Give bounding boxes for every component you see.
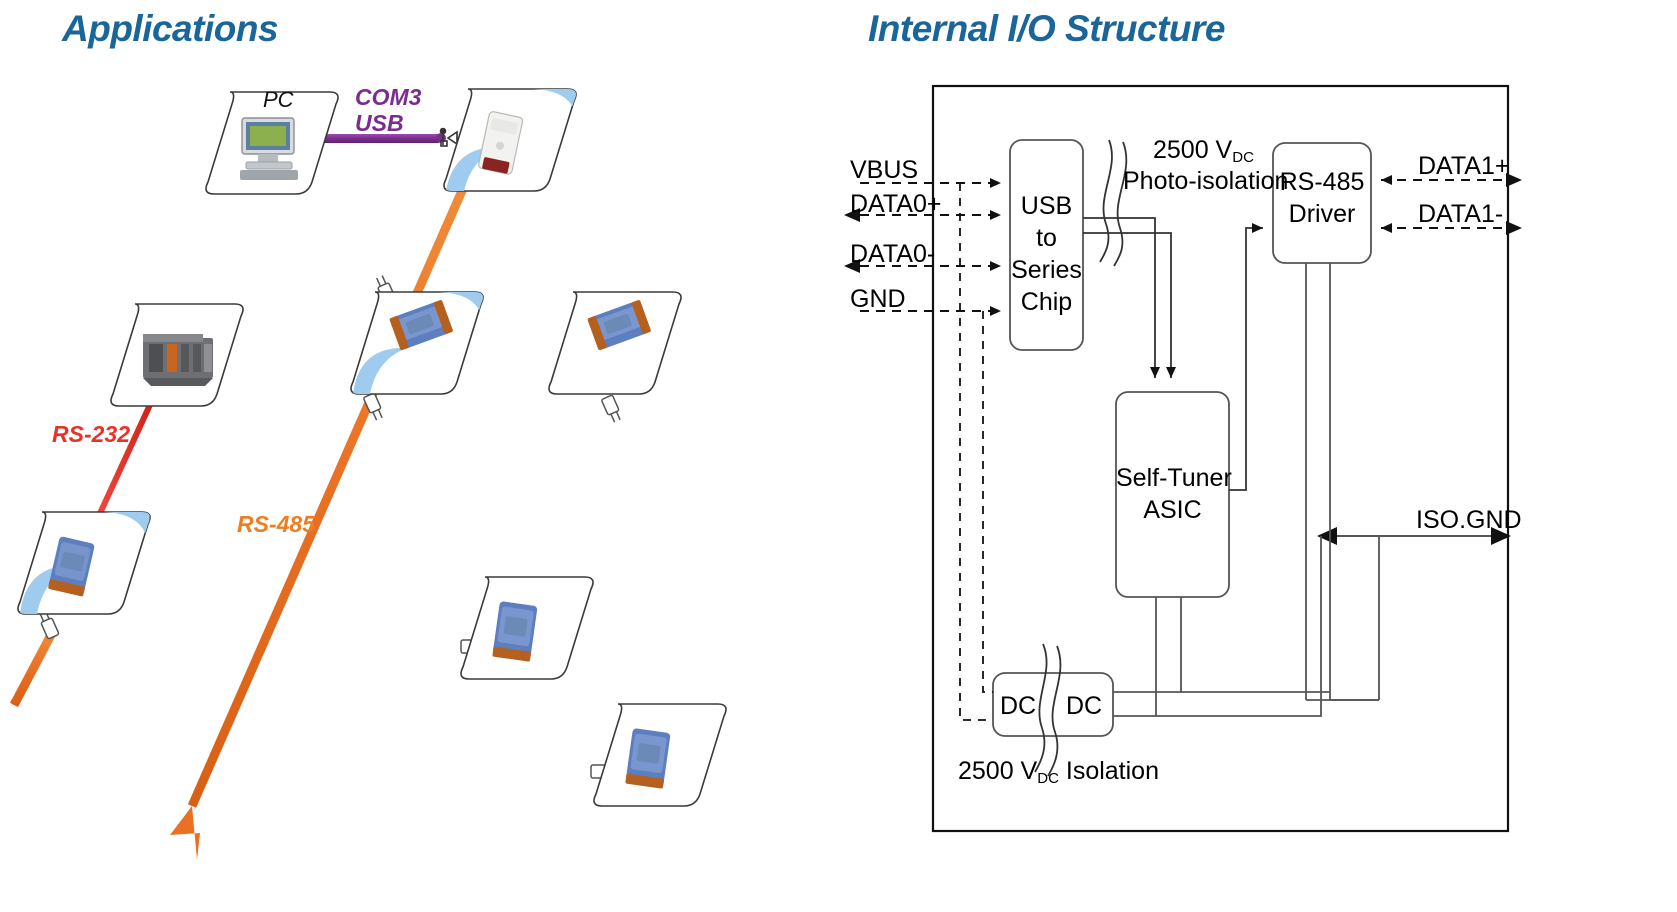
photo-isolation-caption: Photo-isolation [1123, 167, 1288, 196]
dc-isolation-caption: 2500 VDC Isolation [958, 757, 1159, 786]
driver-bottom-pins [1306, 263, 1379, 700]
label-vbus: VBUS [850, 156, 918, 185]
io-structure-panel: Internal I/O Structure [838, 0, 1677, 912]
arrow-iso-gnd-left [1317, 527, 1337, 545]
label-gnd: GND [850, 285, 906, 314]
module-top-left-graphic [345, 288, 495, 406]
asic-to-driver-wire [1229, 228, 1263, 490]
usb-chip-line-3: Series [1010, 254, 1083, 286]
dc-isolation-suffix: Isolation [1066, 757, 1159, 785]
label-data1-minus: DATA1- [1418, 200, 1503, 229]
dc-isolation-value: 2500 V [958, 757, 1037, 785]
label-data0-plus: DATA0+ [850, 190, 941, 219]
vbus-rail-to-dcdc [960, 183, 993, 720]
wire-usb-asic-1 [1083, 218, 1155, 378]
device-card-module-top-right[interactable] [543, 288, 671, 388]
block-label-dc-right: DC [1066, 690, 1102, 722]
photo-isolation-voltage: 2500 VDC [1153, 136, 1254, 165]
rs485-label: RS-485 [237, 511, 315, 537]
wire-usb-asic-2 [1083, 233, 1171, 378]
rs485-driver-line-1: RS-485 [1273, 166, 1371, 198]
arrow-data1m-out [1506, 221, 1522, 235]
photo-isolation-voltage-value: 2500 V [1153, 136, 1232, 164]
self-tuner-line-2: ASIC [1116, 494, 1229, 526]
block-label-rs485-driver: RS-485 Driver [1273, 166, 1371, 230]
usb-chip-line-4: Chip [1010, 286, 1083, 318]
usb-to-asic-wires [1083, 218, 1171, 378]
block-label-usb-chip: USB to Series Chip [1010, 190, 1083, 318]
device-card-converter[interactable] [438, 85, 566, 185]
applications-panel: Applications [0, 0, 838, 912]
usb-cable-label: COM3 USB [355, 84, 421, 137]
pc-label: PC [263, 87, 294, 113]
usb-cable-label-line1: COM3 [355, 84, 421, 110]
label-data1-plus: DATA1+ [1418, 152, 1509, 181]
usb-cable-label-line2: USB [355, 110, 404, 136]
device-card-module-mid-right[interactable] [455, 573, 583, 673]
asic-bottom-pins [1113, 597, 1330, 716]
usb-chip-line-2: to [1010, 222, 1083, 254]
rs485-branch-lower-left-riser [14, 633, 52, 705]
device-card-controller[interactable] [105, 300, 235, 400]
module-mid-right-graphic [455, 573, 605, 691]
dc-isolation-sub: DC [1037, 770, 1059, 787]
self-tuner-line-1: Self-Tuner [1116, 462, 1229, 494]
device-card-module-top-left[interactable] [345, 288, 473, 388]
converter-card-graphic [438, 85, 588, 203]
module-top-right-graphic [543, 288, 693, 406]
module-rs232-graphic [12, 508, 162, 626]
usb-chip-line-1: USB [1010, 190, 1083, 222]
rs485-trunk [170, 168, 472, 860]
rs232-label: RS-232 [52, 421, 130, 447]
block-label-dc-left: DC [1000, 690, 1036, 722]
photo-isolation-barrier-icon [1100, 140, 1126, 266]
label-iso-gnd: ISO.GND [1416, 506, 1522, 535]
block-label-self-tuner-asic: Self-Tuner ASIC [1116, 462, 1229, 526]
controller-card-graphic [105, 300, 257, 418]
label-data0-minus: DATA0- [850, 240, 935, 269]
photo-isolation-voltage-sub: DC [1232, 149, 1254, 166]
power-rail-dashed [960, 183, 993, 720]
device-card-module-bottom-right[interactable] [588, 700, 716, 800]
gnd-rail-to-dcdc [983, 311, 993, 692]
module-bottom-right-graphic [588, 700, 738, 818]
rs485-driver-line-2: Driver [1273, 198, 1371, 230]
device-card-module-rs232[interactable] [12, 508, 140, 608]
